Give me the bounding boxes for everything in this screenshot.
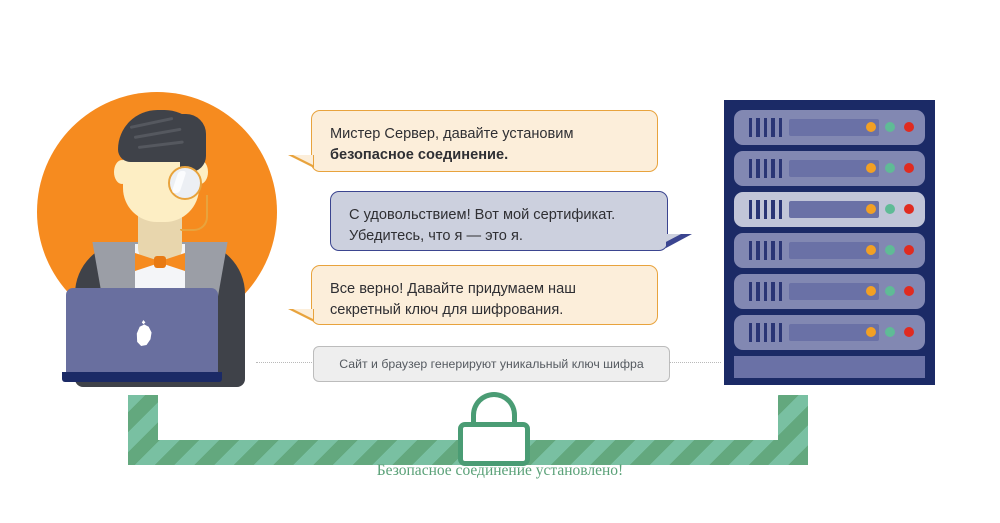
bubble-3-line-1: Все верно! Давайте придумаем наш <box>330 281 576 297</box>
led-green-icon <box>885 245 895 255</box>
led-orange-icon <box>866 204 876 214</box>
rack-base-panel <box>734 356 925 378</box>
server-rack <box>724 100 935 385</box>
bubble-1-line-2: безопасное соединение. <box>330 145 639 166</box>
bubble-3-tail-fill <box>293 309 313 319</box>
monocle-chain <box>180 195 208 231</box>
vent-bars <box>749 159 782 178</box>
led-orange-icon <box>866 245 876 255</box>
key-generation-text: Сайт и браузер генерируют уникальный клю… <box>339 357 643 371</box>
vent-bars <box>749 200 782 219</box>
status-leds <box>866 245 914 255</box>
server-unit <box>734 151 925 186</box>
led-red-icon <box>904 163 914 173</box>
vent-bars <box>749 241 782 260</box>
server-unit <box>734 274 925 309</box>
hair-side <box>180 114 206 172</box>
caption-secure-connection: Безопасное соединение установлено! <box>0 462 1000 480</box>
bubble-2-tail-fill <box>662 234 681 244</box>
status-leds <box>866 204 914 214</box>
bubble-1-tail-fill <box>293 155 313 165</box>
bubble-2-line-1: С удовольствием! Вот мой сертификат. <box>349 207 615 223</box>
server-unit <box>734 233 925 268</box>
status-leds <box>866 286 914 296</box>
led-green-icon <box>885 286 895 296</box>
led-green-icon <box>885 163 895 173</box>
led-red-icon <box>904 327 914 337</box>
status-leds <box>866 163 914 173</box>
server-unit <box>734 110 925 145</box>
vent-bars <box>749 323 782 342</box>
key-generation-note: Сайт и браузер генерируют уникальный клю… <box>313 346 670 382</box>
monocle-glare <box>171 171 186 193</box>
led-red-icon <box>904 245 914 255</box>
led-orange-icon <box>866 122 876 132</box>
led-red-icon <box>904 286 914 296</box>
led-red-icon <box>904 122 914 132</box>
bubble-1-line-1: Мистер Сервер, давайте установим <box>330 126 573 142</box>
led-red-icon <box>904 204 914 214</box>
laptop-base <box>62 372 222 382</box>
status-leds <box>866 122 914 132</box>
led-green-icon <box>885 122 895 132</box>
speech-bubble-server: С удовольствием! Вот мой сертификат. Убе… <box>330 191 668 251</box>
padlock-body <box>458 422 530 466</box>
server-unit <box>734 315 925 350</box>
padlock-icon <box>458 392 530 466</box>
led-orange-icon <box>866 163 876 173</box>
led-green-icon <box>885 327 895 337</box>
led-orange-icon <box>866 286 876 296</box>
bow-tie-knot <box>154 256 166 268</box>
vent-bars <box>749 118 782 137</box>
speech-bubble-client-2: Все верно! Давайте придумаем наш секретн… <box>311 265 658 325</box>
vent-bars <box>749 282 782 301</box>
led-orange-icon <box>866 327 876 337</box>
server-unit-highlighted <box>734 192 925 227</box>
dotted-line-left <box>256 362 312 363</box>
speech-bubble-client-1: Мистер Сервер, давайте установим безопас… <box>311 110 658 172</box>
status-leds <box>866 327 914 337</box>
bubble-3-line-2: секретный ключ для шифрования. <box>330 300 639 321</box>
infographic-canvas: Мистер Сервер, давайте установим безопас… <box>0 0 1000 523</box>
dotted-line-right <box>669 362 721 363</box>
bubble-2-line-2: Убедитесь, что я — это я. <box>349 226 649 247</box>
led-green-icon <box>885 204 895 214</box>
